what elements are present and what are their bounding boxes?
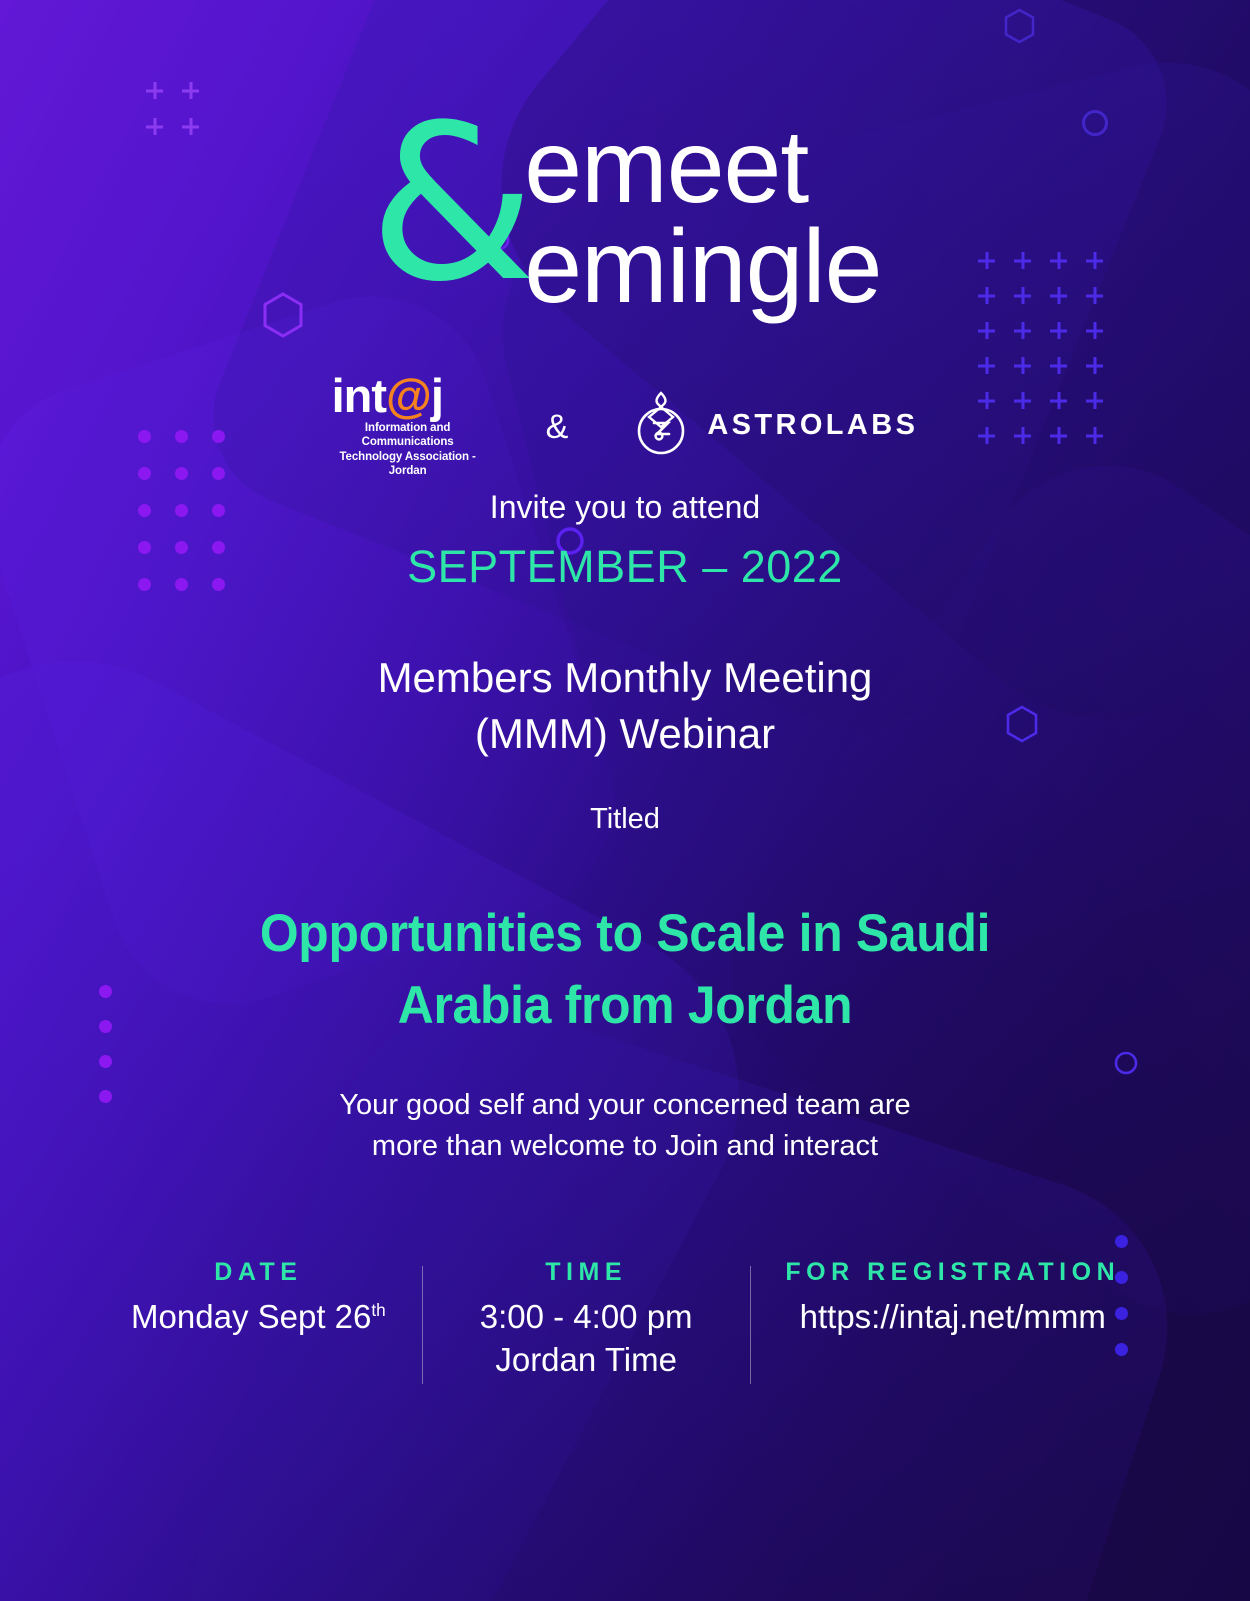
at-icon: @ — [386, 372, 431, 419]
event-name-line2: (MMM) Webinar — [0, 706, 1250, 762]
intaj-wordmark: int @ j — [332, 372, 484, 419]
invitation-blurb: Your good self and your concerned team a… — [0, 1085, 1250, 1167]
event-headline: Opportunities to Scale in Saudi Arabia f… — [38, 898, 1213, 1041]
brand-wordmark: emeet emingle — [524, 118, 881, 318]
intaj-name-part1: int — [332, 372, 386, 419]
astrolabe-icon — [630, 389, 692, 462]
event-month-year: SEPTEMBER – 2022 — [0, 541, 1250, 593]
astrolabs-wordmark: ASTROLABS — [707, 409, 918, 442]
intaj-tagline: Information and Communications Technolog… — [332, 421, 484, 478]
detail-registration-label: FOR REGISTRATION — [759, 1258, 1147, 1287]
ampersand-mark: & — [369, 120, 531, 288]
wordmark-line-2: emingle — [524, 218, 881, 318]
event-details-bar: DATE Monday Sept 26th TIME 3:00 - 4:00 p… — [95, 1258, 1155, 1388]
event-name: Members Monthly Meeting (MMM) Webinar — [0, 650, 1250, 763]
detail-date-main: Monday Sept 26 — [131, 1298, 371, 1335]
detail-date-label: DATE — [103, 1258, 414, 1287]
intaj-tagline-line2: Technology Association - Jordan — [332, 450, 484, 479]
partner-conjunction: & — [546, 408, 569, 447]
detail-registration: FOR REGISTRATION https://intaj.net/mmm — [751, 1258, 1155, 1388]
blurb-line1: Your good self and your concerned team a… — [0, 1085, 1250, 1126]
poster-content: & emeet emingle int @ j Information and … — [0, 0, 1250, 1601]
event-headline-line2: Arabia from Jordan — [38, 970, 1213, 1042]
event-headline-line1: Opportunities to Scale in Saudi — [38, 898, 1213, 970]
detail-time-value: 3:00 - 4:00 pm Jordan Time — [431, 1296, 742, 1382]
intaj-name-part2: j — [431, 372, 443, 419]
detail-date: DATE Monday Sept 26th — [95, 1258, 422, 1388]
detail-time-label: TIME — [431, 1258, 742, 1287]
intaj-logo: int @ j Information and Communications T… — [332, 372, 484, 478]
brand-logo: & emeet emingle — [0, 112, 1250, 318]
detail-time-zone: Jordan Time — [431, 1339, 742, 1382]
detail-time: TIME 3:00 - 4:00 pm Jordan Time — [423, 1258, 750, 1388]
blurb-line2: more than welcome to Join and interact — [0, 1126, 1250, 1167]
event-name-line1: Members Monthly Meeting — [0, 650, 1250, 706]
partner-logos: int @ j Information and Communications T… — [0, 372, 1250, 478]
detail-time-main: 3:00 - 4:00 pm — [431, 1296, 742, 1339]
registration-url[interactable]: https://intaj.net/mmm — [759, 1296, 1147, 1339]
wordmark-line-1: emeet — [524, 118, 881, 218]
detail-date-ordinal: th — [371, 1300, 385, 1320]
detail-date-value: Monday Sept 26th — [103, 1296, 414, 1339]
event-poster: & emeet emingle int @ j Information and … — [0, 0, 1250, 1601]
titled-label: Titled — [0, 803, 1250, 836]
astrolabs-logo: ASTROLABS — [630, 389, 918, 462]
invitation-intro: Invite you to attend — [0, 489, 1250, 526]
intaj-tagline-line1: Information and Communications — [332, 421, 484, 450]
